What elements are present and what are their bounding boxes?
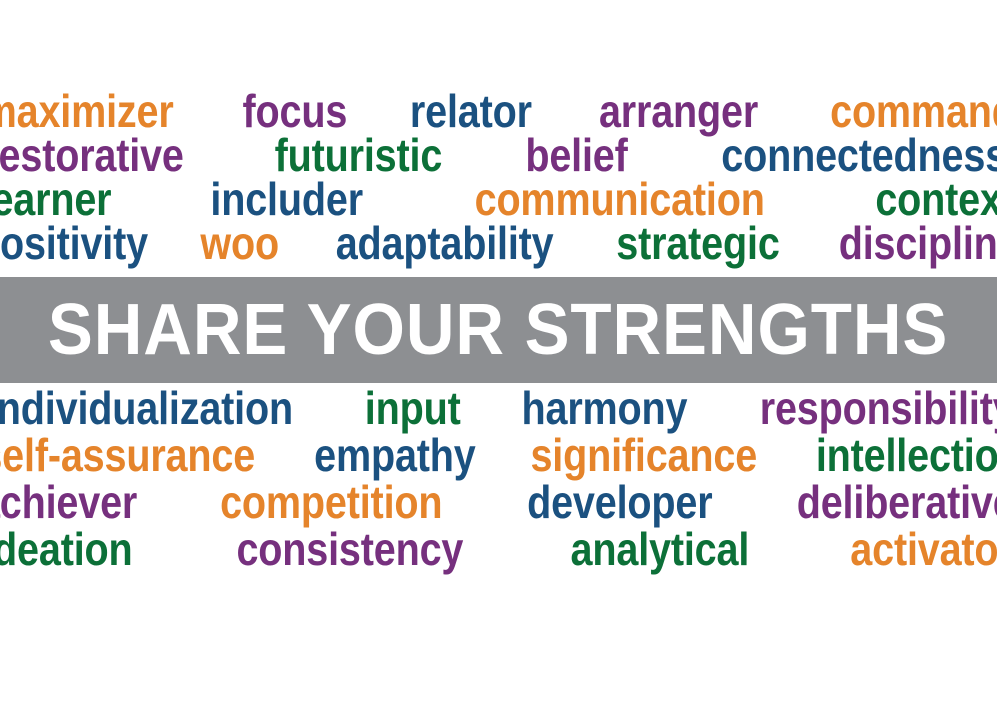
word-row: restorativefuturisticbeliefconnectedness [0, 132, 997, 176]
word-row: individualizationinputharmonyresponsibil… [0, 385, 997, 432]
strength-word: achiever [0, 479, 137, 525]
banner: SHARE YOUR STRENGTHS [0, 277, 997, 383]
strength-word: harmony [521, 385, 687, 431]
strength-word: developer [527, 479, 712, 525]
strength-word: woo [201, 220, 280, 266]
strength-word: discipline [839, 220, 997, 266]
word-cloud-top: maximizerfocusrelatorarrangercommandrest… [0, 88, 997, 264]
banner-title: SHARE YOUR STRENGTHS [48, 294, 948, 366]
word-row: ideationconsistencyanalyticalactivator [0, 526, 997, 573]
strength-word: futuristic [275, 132, 443, 178]
strength-word: focus [242, 88, 347, 134]
word-row: self-assuranceempathysignificanceintelle… [0, 432, 997, 479]
strength-word: restorative [0, 132, 184, 178]
strength-word: adaptability [335, 220, 553, 266]
strength-word: positivity [0, 220, 148, 266]
strength-word: significance [530, 432, 757, 478]
strength-word: communication [475, 176, 765, 222]
strength-word: activator [850, 526, 997, 572]
strength-word: includer [211, 176, 364, 222]
strength-word: empathy [314, 432, 475, 478]
strength-word: self-assurance [0, 432, 255, 478]
strength-word: relator [410, 88, 532, 134]
strength-word: belief [526, 132, 628, 178]
word-cloud-bottom: individualizationinputharmonyresponsibil… [0, 385, 997, 573]
strength-word: learner [0, 176, 112, 222]
strength-word: connectedness [721, 132, 997, 178]
strength-word: consistency [237, 526, 464, 572]
word-row: maximizerfocusrelatorarrangercommand [0, 88, 997, 132]
word-row: learnerincludercommunicationcontext [0, 176, 997, 220]
strengths-poster: maximizerfocusrelatorarrangercommandrest… [0, 0, 997, 725]
strength-word: individualization [0, 385, 293, 431]
strength-word: analytical [570, 526, 749, 572]
strength-word: ideation [0, 526, 133, 572]
strength-word: responsibility [760, 385, 997, 431]
strength-word: maximizer [0, 88, 174, 134]
strength-word: context [876, 176, 997, 222]
strength-word: strategic [616, 220, 779, 266]
strength-word: intellection [816, 432, 997, 478]
strength-word: arranger [598, 88, 757, 134]
strength-word: command [830, 88, 997, 134]
word-row: achievercompetitiondeveloperdeliberative [0, 479, 997, 526]
word-row: positivitywooadaptabilitystrategicdiscip… [0, 220, 997, 264]
strength-word: competition [220, 479, 442, 525]
strength-word: deliberative [797, 479, 997, 525]
strength-word: input [365, 385, 461, 431]
